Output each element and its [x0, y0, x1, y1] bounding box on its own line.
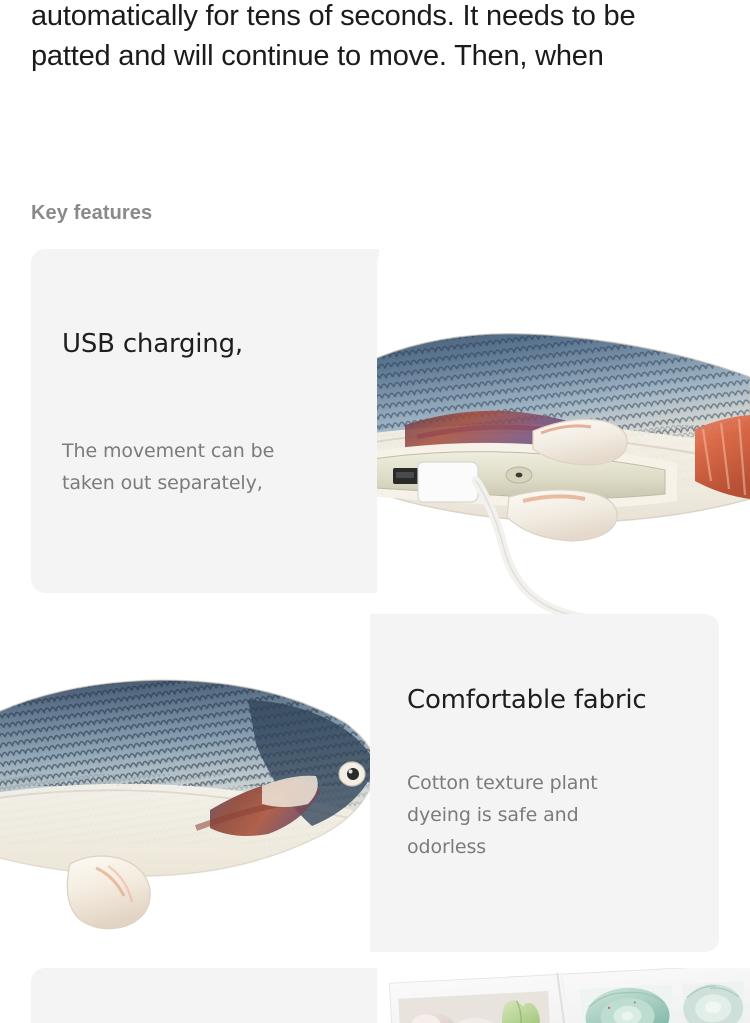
- intro-paragraph: p g y g p automatically for tens of seco…: [31, 0, 721, 76]
- feature-text-panel: USB charging, The movement can be taken …: [31, 249, 377, 593]
- feature-title: USB charging,: [62, 328, 243, 360]
- feature-text-panel: Comfortable fabric Cotton texture plant …: [370, 614, 719, 952]
- feature-body: The movement can be taken out separately…: [62, 435, 322, 499]
- fish-plush-usb-photo: [377, 249, 750, 621]
- feature-body: Cotton texture plant dyeing is safe and …: [407, 767, 657, 863]
- intro-line-1: automatically for tens of seconds. It ne…: [31, 0, 721, 36]
- feature-image-comfortable-fabric: [0, 614, 377, 952]
- open-book-succulents-photo: [377, 968, 750, 1023]
- feature-card-usb-charging[interactable]: USB charging, The movement can be taken …: [31, 249, 750, 621]
- feature-image-usb-charging: [377, 249, 750, 621]
- intro-line-2: patted and will continue to move. Then, …: [31, 36, 721, 76]
- feature-card-comfortable-fabric[interactable]: Comfortable fabric Cotton texture plant …: [0, 614, 719, 952]
- fish-plush-side-photo: [0, 614, 377, 952]
- feature-card-third[interactable]: [31, 968, 750, 1023]
- page-title: Key features: [31, 202, 152, 225]
- feature-image-succulent-book: [377, 968, 750, 1023]
- feature-text-panel: [31, 968, 377, 1023]
- feature-title: Comfortable fabric: [407, 684, 646, 716]
